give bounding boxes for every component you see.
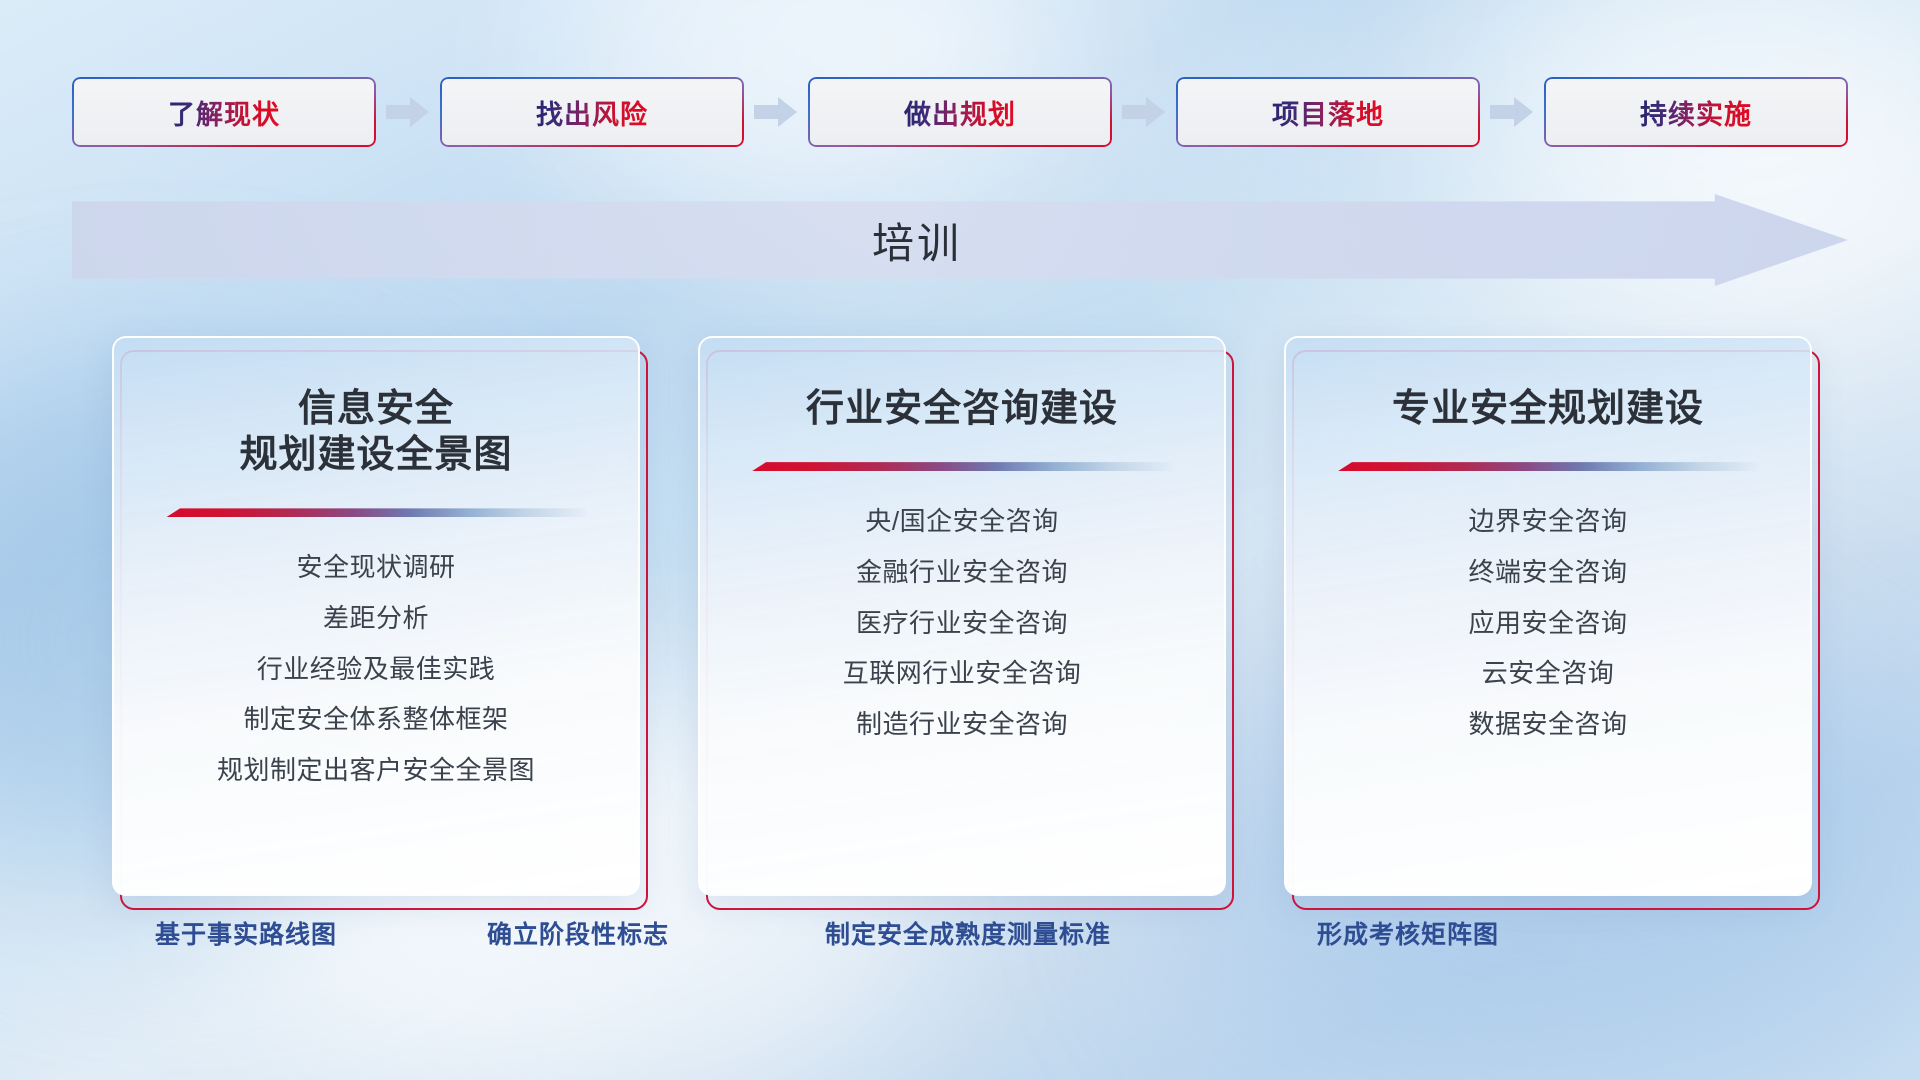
process-step-1[interactable]: 了解现状 — [72, 77, 376, 147]
bottom-label-1: 基于事实路线图 — [155, 915, 337, 951]
list-item: 金融行业安全咨询 — [856, 554, 1068, 592]
process-step-2[interactable]: 找出风险 — [440, 77, 744, 147]
card-divider — [752, 462, 1172, 471]
card-row: 信息安全 规划建设全景图 安全现状调研 差距分析 行业经验及最佳实践 制定安全体… — [112, 336, 1812, 896]
process-step-row: 了解现状 找出风险 做出规划 项目落地 — [72, 76, 1848, 148]
bottom-label-3: 制定安全成熟度测量标准 — [825, 915, 1111, 951]
arrow-right-icon — [744, 92, 808, 132]
card-1[interactable]: 信息安全 规划建设全景图 安全现状调研 差距分析 行业经验及最佳实践 制定安全体… — [112, 336, 640, 896]
process-step-5[interactable]: 持续实施 — [1544, 77, 1848, 147]
card-item-list: 安全现状调研 差距分析 行业经验及最佳实践 制定安全体系整体框架 规划制定出客户… — [217, 549, 535, 789]
card-title-line2: 规划建设全景图 — [239, 430, 512, 480]
process-step-4[interactable]: 项目落地 — [1176, 77, 1480, 147]
arrow-right-icon — [1480, 92, 1544, 132]
slide-canvas: 了解现状 找出风险 做出规划 项目落地 — [0, 0, 1920, 1080]
list-item: 制造行业安全咨询 — [856, 706, 1068, 744]
process-step-label: 持续实施 — [1640, 93, 1752, 132]
card-title-line1: 信息安全 — [298, 384, 454, 434]
card-title-line1: 行业安全咨询建设 — [806, 384, 1118, 434]
list-item: 安全现状调研 — [296, 549, 455, 587]
list-item: 边界安全咨询 — [1468, 503, 1627, 541]
bottom-label-row: 基于事实路线图 确立阶段性标志 制定安全成熟度测量标准 形成考核矩阵图 — [0, 915, 1920, 965]
process-step-label: 项目落地 — [1272, 93, 1384, 132]
process-step-label: 了解现状 — [168, 93, 280, 132]
list-item: 央/国企安全咨询 — [865, 503, 1058, 541]
card-2[interactable]: 行业安全咨询建设 央/国企安全咨询 金融行业安全咨询 医疗行业安全咨询 互联网行… — [698, 336, 1226, 896]
list-item: 医疗行业安全咨询 — [856, 605, 1068, 643]
banner-title: 培训 — [72, 194, 1762, 286]
bottom-label-2: 确立阶段性标志 — [487, 915, 669, 951]
card-wrapper-1: 信息安全 规划建设全景图 安全现状调研 差距分析 行业经验及最佳实践 制定安全体… — [112, 336, 640, 896]
card-wrapper-3: 专业安全规划建设 边界安全咨询 终端安全咨询 应用安全咨询 云安全咨询 数据安全… — [1284, 336, 1812, 896]
list-item: 终端安全咨询 — [1468, 554, 1627, 592]
card-item-list: 央/国企安全咨询 金融行业安全咨询 医疗行业安全咨询 互联网行业安全咨询 制造行… — [843, 503, 1082, 743]
list-item: 云安全咨询 — [1482, 655, 1615, 693]
card-wrapper-2: 行业安全咨询建设 央/国企安全咨询 金融行业安全咨询 医疗行业安全咨询 互联网行… — [698, 336, 1226, 896]
training-banner: 培训 — [72, 194, 1848, 286]
list-item: 互联网行业安全咨询 — [843, 655, 1082, 693]
process-step-label: 找出风险 — [536, 93, 648, 132]
list-item: 规划制定出客户安全全景图 — [217, 752, 535, 790]
list-item: 制定安全体系整体框架 — [243, 701, 508, 739]
card-divider — [1338, 462, 1758, 471]
arrow-right-icon — [1112, 92, 1176, 132]
process-step-label: 做出规划 — [904, 93, 1016, 132]
list-item: 数据安全咨询 — [1468, 706, 1627, 744]
list-item: 应用安全咨询 — [1468, 605, 1627, 643]
bottom-label-4: 形成考核矩阵图 — [1317, 915, 1499, 951]
list-item: 行业经验及最佳实践 — [257, 651, 496, 689]
card-3[interactable]: 专业安全规划建设 边界安全咨询 终端安全咨询 应用安全咨询 云安全咨询 数据安全… — [1284, 336, 1812, 896]
arrow-right-icon — [376, 92, 440, 132]
process-step-3[interactable]: 做出规划 — [808, 77, 1112, 147]
card-title-line1: 专业安全规划建设 — [1392, 384, 1704, 434]
card-divider — [166, 508, 586, 517]
card-item-list: 边界安全咨询 终端安全咨询 应用安全咨询 云安全咨询 数据安全咨询 — [1468, 503, 1627, 743]
list-item: 差距分析 — [323, 600, 429, 638]
